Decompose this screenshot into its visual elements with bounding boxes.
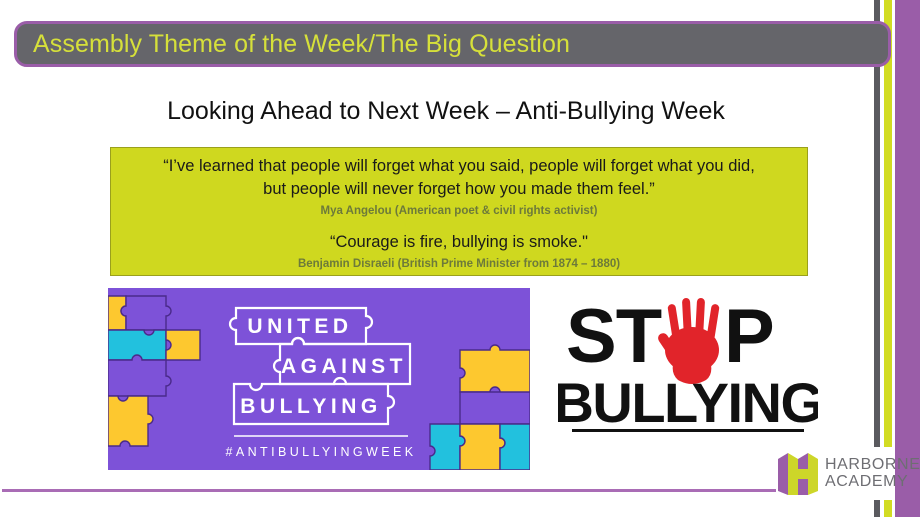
quote-text-line1: “I’ve learned that people will forget wh…: [121, 155, 797, 178]
stop-bullying-graphic: ST P BULLYING: [558, 290, 818, 442]
united-against-bullying-banner: UNITED AGAINST BULLYING #ANTIBULLYINGWEE…: [108, 288, 530, 470]
edge-bar-gray: [874, 0, 880, 517]
quote-block-2: “Courage is fire, bullying is smoke." Be…: [121, 231, 797, 270]
quote-text-line2: but people will never forget how you mad…: [121, 178, 797, 201]
quote-text-line1: “Courage is fire, bullying is smoke.": [121, 231, 797, 254]
stop-word2: BULLYING: [558, 371, 818, 434]
harborne-line1: HARBORNE: [825, 457, 920, 473]
uab-line2: AGAINST: [281, 355, 407, 378]
stop-word-part1: ST: [566, 294, 662, 379]
edge-bar-purple: [895, 0, 920, 517]
puzzle-graphic: UNITED AGAINST BULLYING #ANTIBULLYINGWEE…: [108, 288, 530, 470]
harborne-line2: ACADEMY: [825, 474, 920, 490]
presentation-slide: Assembly Theme of the Week/The Big Quest…: [0, 0, 920, 517]
title-banner: Assembly Theme of the Week/The Big Quest…: [14, 21, 891, 67]
harborne-academy-logo: HARBORNE ACADEMY: [776, 447, 892, 500]
edge-bar-green: [884, 0, 892, 517]
quote-attribution: Mya Angelou (American poet & civil right…: [121, 205, 797, 217]
harborne-wordmark: HARBORNE ACADEMY: [825, 457, 920, 490]
underline-rule: [572, 429, 804, 432]
stop-word-part2: P: [724, 294, 775, 379]
quote-box: “I’ve learned that people will forget wh…: [110, 147, 808, 276]
page-title: Looking Ahead to Next Week – Anti-Bullyi…: [0, 97, 892, 126]
stop-bullying-logo: ST P BULLYING: [558, 290, 818, 442]
quote-block-1: “I’ve learned that people will forget wh…: [121, 155, 797, 217]
uab-hashtag: #ANTIBULLYINGWEEK: [226, 445, 417, 459]
bottom-divider: [2, 489, 862, 492]
quote-attribution: Benjamin Disraeli (British Prime Ministe…: [121, 258, 797, 270]
harborne-h-mark-icon: [776, 451, 820, 497]
uab-line1: UNITED: [247, 315, 352, 338]
title-banner-text: Assembly Theme of the Week/The Big Quest…: [17, 32, 570, 57]
uab-line3: BULLYING: [240, 395, 381, 418]
